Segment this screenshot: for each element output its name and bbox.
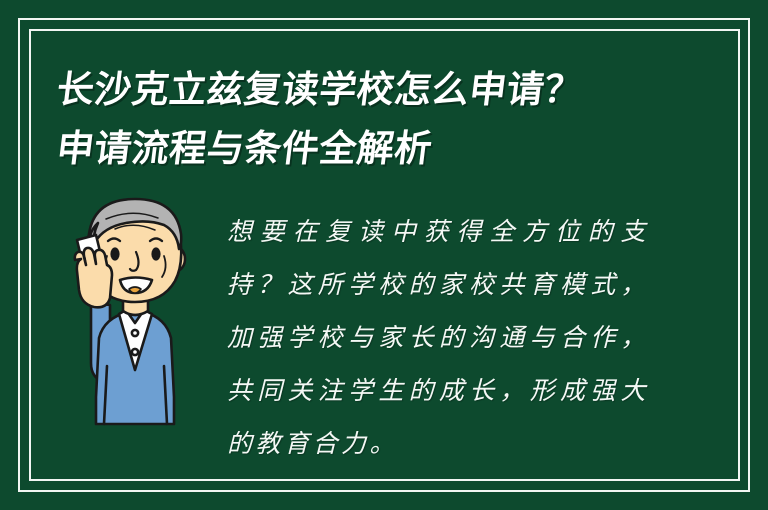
tongue	[129, 287, 141, 293]
finger-line-1	[95, 257, 96, 264]
eye-left	[110, 247, 119, 260]
headline-block: 长沙克立兹复读学校怎么申请？ 申请流程与条件全解析	[57, 60, 697, 178]
hand	[75, 248, 112, 307]
headline-line-1: 长沙克立兹复读学校怎么申请？	[53, 60, 700, 119]
headline-line-2: 申请流程与条件全解析	[53, 119, 700, 178]
poster-canvas: 长沙克立兹复读学校怎么申请？ 申请流程与条件全解析 想要在复读中获得全方位的支持…	[0, 0, 768, 510]
body-paragraph: 想要在复读中获得全方位的支持？这所学校的家校共育模式，加强学校与家长的沟通与合作…	[227, 205, 649, 470]
finger-line-2	[85, 258, 86, 265]
elderly-man-on-phone-illustration	[60, 192, 196, 436]
shirt-button-top	[132, 330, 138, 336]
eye-right	[151, 247, 160, 260]
shirt-button-bottom	[132, 349, 138, 355]
